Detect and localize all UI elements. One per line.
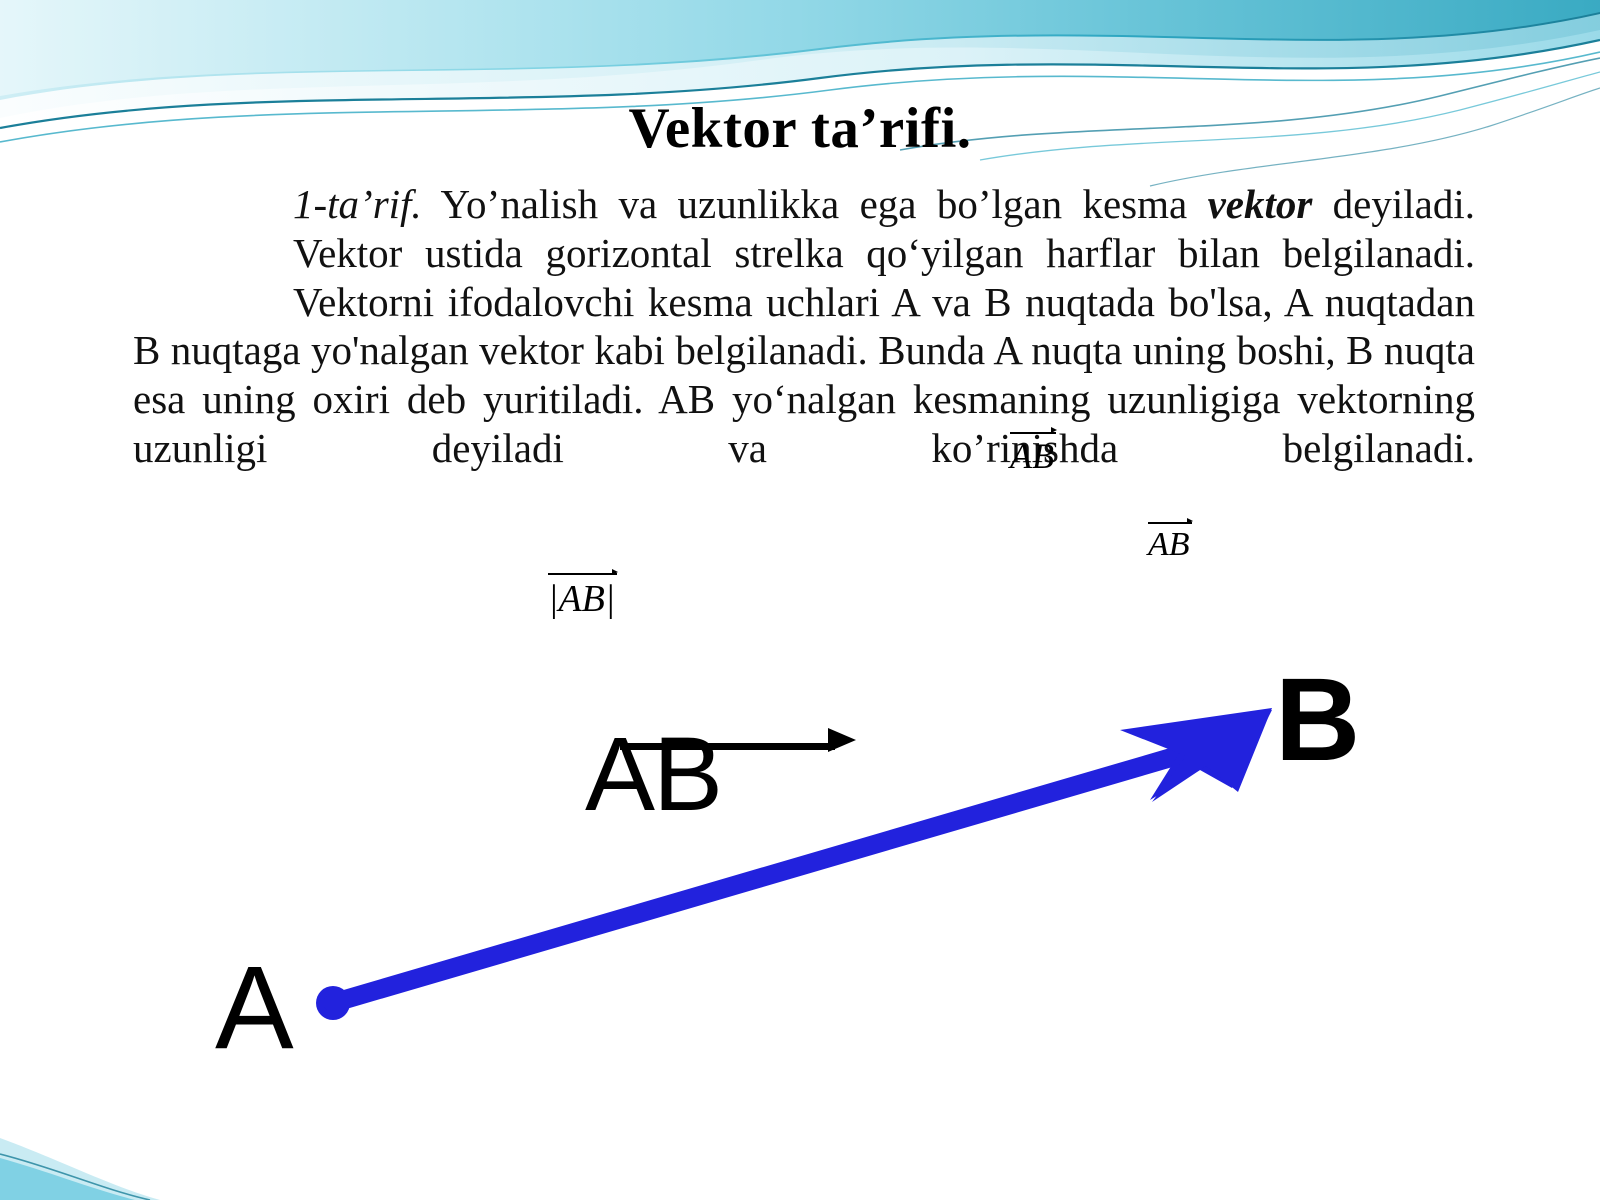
inline-vector-ab-1: AB [1010,438,1054,474]
paragraph-3-text: Vektorni ifodalovchi kesma uchlari A va … [133,279,1475,471]
term-1-tarif: 1-ta’rif. [293,181,422,227]
page-title: Vektor ta’rifi. [0,96,1600,161]
paragraph-1-text: Yo’nalish va uzunlikka ega bo’lgan kesma [422,181,1208,227]
label-vector-ab-text: AB [585,716,721,833]
paragraph-2-text: Vektor ustida gorizontal strelka qo‘yilg… [293,230,1475,276]
slide: Vektor ta’rifi. 1-ta’rif. Yo’nalish va u… [0,0,1600,1200]
slide-body: 1-ta’rif. Yo’nalish va uzunlikka ega bo’… [133,180,1475,473]
top-banner-decoration [0,0,1600,190]
vector-figure: A B AB [0,640,1600,1110]
inline-vector-ab-2: AB [1148,528,1190,562]
vector-overbar [620,743,835,750]
paragraph-1-tail: deyiladi. [1312,181,1475,227]
label-point-a: A [215,940,294,1076]
paragraph-2: Vektor ustida gorizontal strelka qo‘yilg… [133,229,1475,278]
vector-arrowhead-icon [828,728,856,752]
inline-vector-ab-magnitude: |AB| [548,580,615,618]
paragraph-3: Vektorni ifodalovchi kesma uchlari A va … [133,278,1475,473]
label-point-b: B [1275,652,1360,788]
label-vector-ab: AB [585,715,721,835]
paragraph-1: 1-ta’rif. Yo’nalish va uzunlikka ega bo’… [133,180,1475,229]
term-vektor: vektor [1208,181,1313,227]
